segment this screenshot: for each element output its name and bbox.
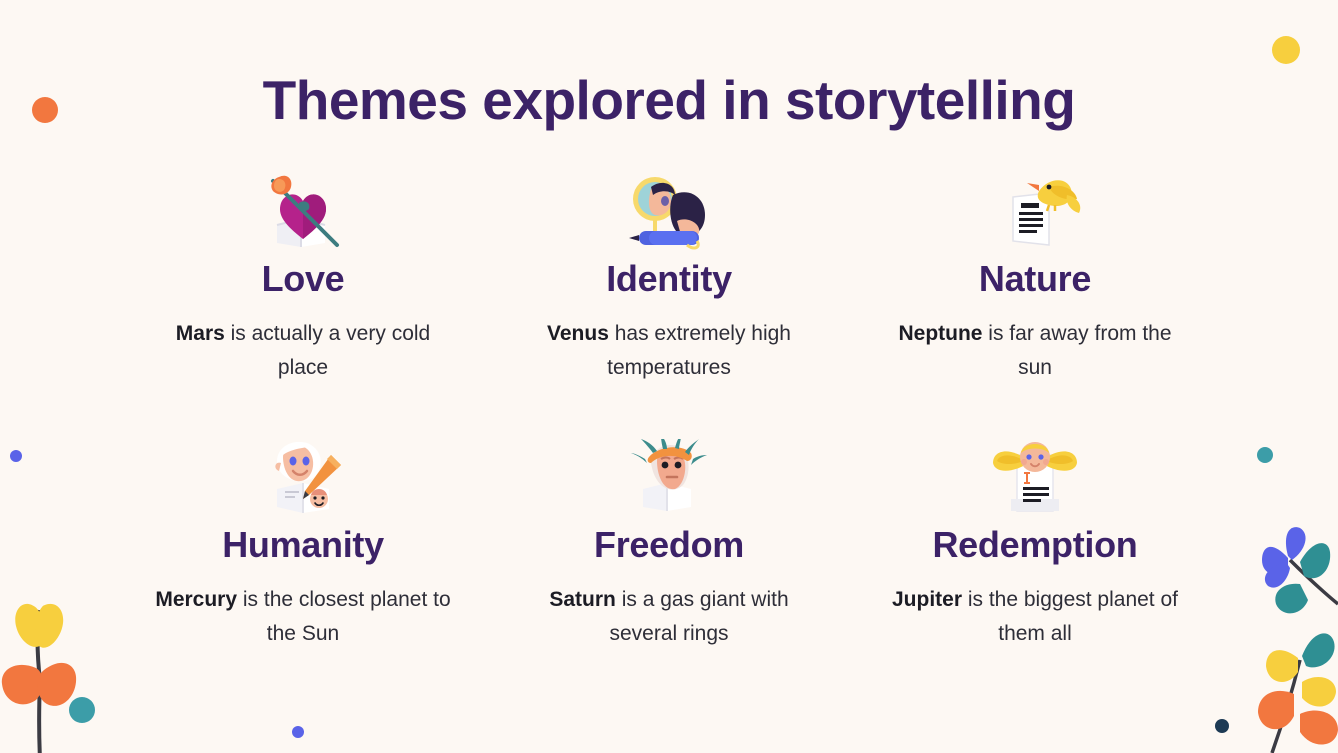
theme-description-lead: Neptune — [898, 322, 982, 345]
theme-heading: Humanity — [222, 525, 384, 565]
theme-heading: Freedom — [594, 525, 744, 565]
theme-description: Neptune is far away from the sun — [885, 317, 1185, 386]
theme-heading: Nature — [979, 259, 1091, 299]
heart-arrow-book-icon — [248, 165, 358, 251]
theme-description-rest: is the biggest planet of them all — [962, 588, 1178, 646]
theme-description-lead: Mars — [176, 322, 225, 345]
theme-cell-identity: Identity Venus has extremely high temper… — [486, 165, 852, 431]
theme-description-lead: Jupiter — [892, 588, 962, 611]
elder-pencil-book-icon — [248, 431, 358, 517]
person-mirror-pen-icon — [614, 165, 724, 251]
theme-cell-redemption: Redemption Jupiter is the biggest planet… — [852, 431, 1218, 697]
page-title: Themes explored in storytelling — [0, 72, 1338, 130]
theme-heading: Redemption — [932, 525, 1137, 565]
themes-grid: Love Mars is actually a very cold place — [120, 165, 1218, 697]
theme-description: Saturn is a gas giant with several rings — [519, 583, 819, 652]
theme-description-rest: is actually a very cold place — [225, 322, 430, 380]
bird-document-icon — [980, 165, 1090, 251]
theme-description-lead: Venus — [547, 322, 609, 345]
theme-cell-humanity: Humanity Mercury is the closest planet t… — [120, 431, 486, 697]
theme-description-rest: has extremely high temperatures — [607, 322, 791, 380]
theme-description: Jupiter is the biggest planet of them al… — [885, 583, 1185, 652]
theme-description-rest: is far away from the sun — [982, 322, 1171, 380]
theme-description: Venus has extremely high temperatures — [519, 317, 819, 386]
theme-description: Mars is actually a very cold place — [153, 317, 453, 386]
theme-description-rest: is the closest planet to the Sun — [237, 588, 451, 646]
angel-document-icon — [980, 431, 1090, 517]
theme-heading: Identity — [606, 259, 732, 299]
theme-description-rest: is a gas giant with several rings — [609, 588, 788, 646]
theme-heading: Love — [262, 259, 345, 299]
theme-cell-nature: Nature Neptune is far away from the sun — [852, 165, 1218, 431]
theme-cell-love: Love Mars is actually a very cold place — [120, 165, 486, 431]
slide-root: Themes explored in storytelling — [0, 0, 1338, 753]
liberty-crown-face-icon — [614, 431, 724, 517]
theme-description-lead: Saturn — [549, 588, 616, 611]
theme-cell-freedom: Freedom Saturn is a gas giant with sever… — [486, 431, 852, 697]
theme-description: Mercury is the closest planet to the Sun — [153, 583, 453, 652]
theme-description-lead: Mercury — [155, 588, 237, 611]
